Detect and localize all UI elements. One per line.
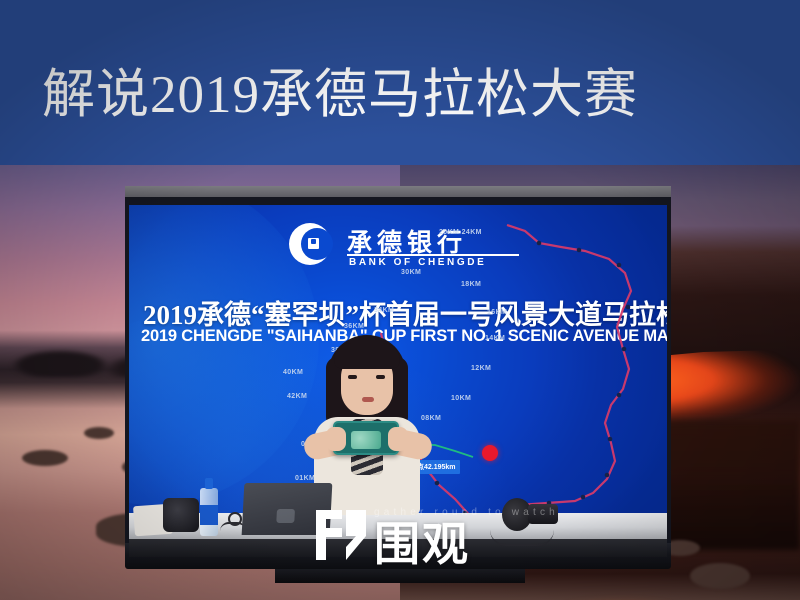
route-km-marker: 10KM — [451, 395, 471, 402]
page-title: 解说2019承德马拉松大赛 — [42, 62, 742, 132]
weiguan-logo-icon — [312, 506, 370, 564]
dark-object — [163, 498, 199, 532]
bangs — [334, 343, 400, 369]
route-km-marker: 12KM — [471, 365, 491, 372]
mouth — [362, 397, 374, 402]
bottle-label — [200, 505, 218, 525]
bank-of-chengde-logo-icon — [289, 223, 331, 265]
header-banner: 解说2019承德马拉松大赛 — [0, 0, 800, 165]
route-km-marker: 30KM — [401, 269, 421, 276]
eye-left — [348, 375, 357, 379]
rock — [22, 450, 68, 466]
bottle-cap — [205, 478, 213, 489]
hand-left — [326, 427, 346, 451]
rock — [84, 427, 114, 439]
watermark-brand: 围观 — [374, 518, 470, 570]
route-km-marker: 34KM — [374, 307, 394, 314]
screenshot-root: 承德银行 BANK OF CHENGDE 2019承德“塞罕坝”杯首届一号风景大… — [0, 0, 800, 600]
route-km-marker: 36KM — [344, 323, 364, 330]
route-km-marker: 14KM — [485, 335, 505, 342]
route-km-marker: 20KM 24KM — [439, 229, 482, 236]
eye-right — [376, 375, 385, 379]
tv-top-bezel — [125, 186, 671, 197]
route-center-marker — [482, 445, 498, 461]
route-km-marker: 18KM — [461, 281, 481, 288]
water-bottle — [200, 478, 218, 536]
hand-right — [388, 427, 408, 451]
water-reflection — [400, 595, 800, 600]
watermark-overlay: gather round to watch 围观 — [312, 506, 542, 576]
route-km-marker: 16KM — [487, 309, 507, 316]
watermark-tagline: gather round to watch — [374, 507, 559, 518]
logo-inner-dot-icon — [311, 239, 316, 244]
rock — [690, 563, 750, 589]
